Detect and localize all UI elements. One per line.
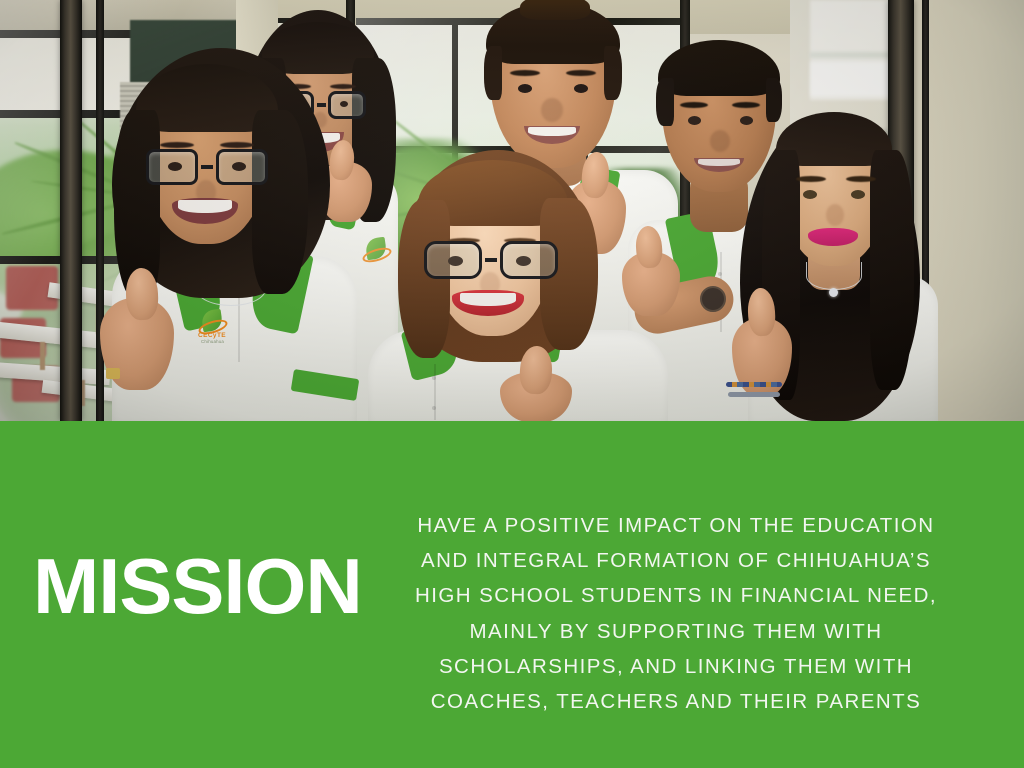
necklace <box>806 262 862 290</box>
bracelet <box>728 392 780 397</box>
mission-line: Have a positive impact on the education <box>376 508 976 543</box>
mission-line: high school students in financial need, <box>376 578 976 613</box>
bracelet <box>726 382 782 387</box>
ring <box>106 368 120 379</box>
mission-line: scholarships, and linking them with <box>376 649 976 684</box>
cecyte-logo-subtitle: Chihuahua <box>201 339 237 344</box>
wristwatch <box>700 286 726 312</box>
necklace-pendant <box>829 288 838 297</box>
students-photo: CECyTE Chihuahua <box>0 0 1024 421</box>
mission-slide: CECyTE Chihuahua <box>0 0 1024 768</box>
mission-line: and integral formation of Chihuahua’s <box>376 543 976 578</box>
mission-line: coaches, teachers and their parents <box>376 684 976 719</box>
window-post <box>60 0 82 421</box>
cecyte-logo: CECyTE Chihuahua <box>198 310 238 348</box>
page-title: MISSION <box>33 547 362 625</box>
mission-line: mainly by supporting them with <box>376 614 976 649</box>
mission-statement: Have a positive impact on the education … <box>376 508 976 719</box>
cecyte-logo-text: CECyTE <box>198 332 234 339</box>
